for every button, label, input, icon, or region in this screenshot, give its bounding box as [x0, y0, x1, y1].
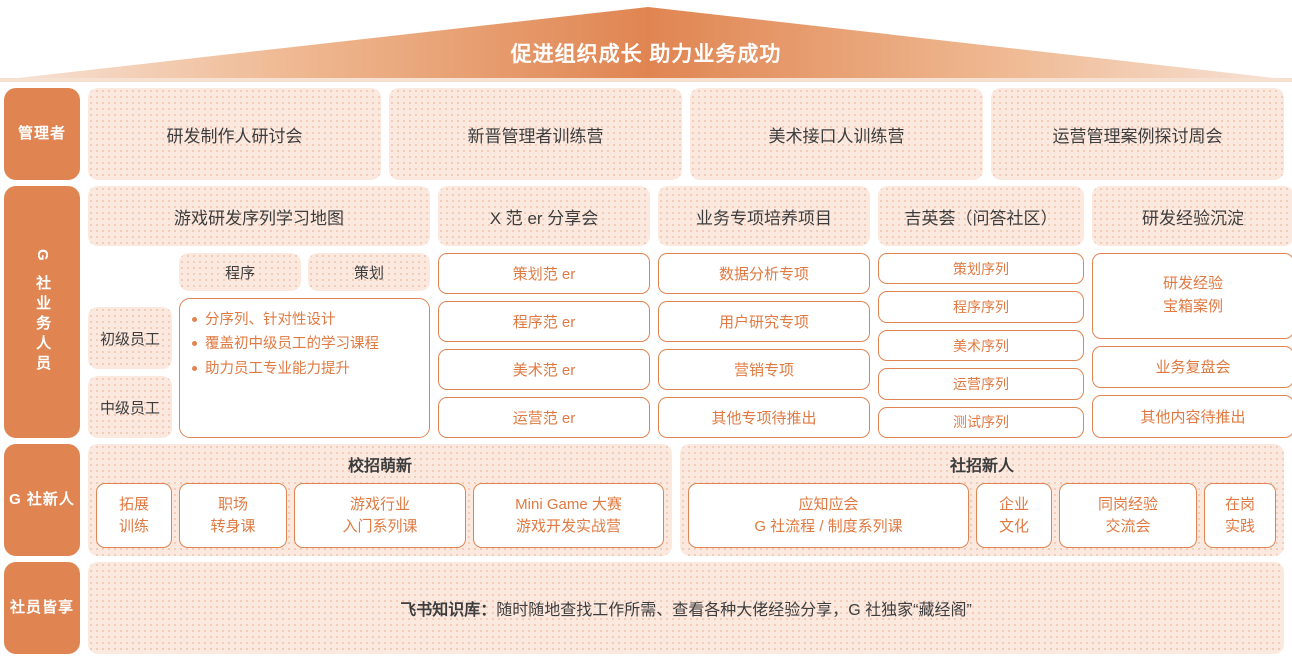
bullet-item: 分序列、针对性设计 [205, 309, 417, 332]
list-item[interactable]: 程序序列 [878, 291, 1084, 322]
list-item[interactable]: 策划序列 [878, 253, 1084, 284]
list-item[interactable]: 策划范 er [438, 253, 650, 294]
list-item[interactable]: 职场转身课 [179, 483, 287, 548]
rnd-experience-list: 研发经验宝箱案例 业务复盘会 其他内容待推出 [1092, 253, 1292, 438]
qa-community-list: 策划序列 程序序列 美术序列 运营序列 测试序列 [878, 253, 1084, 438]
column-head-qa-community[interactable]: 吉英荟（问答社区） [878, 186, 1084, 246]
row-label-all-members: 社员皆享 [4, 562, 80, 654]
list-item[interactable]: 美术范 er [438, 349, 650, 390]
campus-recruit-items: 拓展训练 职场转身课 游戏行业入门系列课 Mini Game 大赛游戏开发实战营 [96, 483, 664, 548]
level-chips: 初级员工 中级员工 [88, 253, 172, 438]
list-item[interactable]: 美术序列 [878, 330, 1084, 361]
row-label-newcomers: G 社新人 [4, 444, 80, 556]
subcategory-chips: 程序 策划 [179, 253, 430, 291]
manager-card[interactable]: 美术接口人训练营 [690, 88, 983, 180]
bullet-list: 分序列、针对性设计 覆盖初中级员工的学习课程 助力员工专业能力提升 [190, 309, 417, 381]
knowledge-base-title: 飞书知识库： [400, 596, 496, 620]
column-rnd-experience: 研发经验沉淀 研发经验宝箱案例 业务复盘会 其他内容待推出 [1092, 186, 1292, 438]
list-item[interactable]: 同岗经验交流会 [1059, 483, 1197, 548]
manager-card[interactable]: 研发制作人研讨会 [88, 88, 381, 180]
list-item[interactable]: 运营序列 [878, 368, 1084, 399]
column-head-fan-er-sharing[interactable]: X 范 er 分享会 [438, 186, 650, 246]
column-qa-community: 吉英荟（问答社区） 策划序列 程序序列 美术序列 运营序列 测试序列 [878, 186, 1084, 438]
list-item[interactable]: 企业文化 [976, 483, 1052, 548]
panel-social-recruits: 社招新人 应知应会G 社流程 / 制度系列课 企业文化 同岗经验交流会 在岗实践 [680, 444, 1284, 556]
row-all-members: 社员皆享 飞书知识库：随时随地查找工作所需、查看各种大佬经验分享，G 社独家“藏… [0, 562, 1292, 654]
manager-card[interactable]: 运营管理案例探讨周会 [991, 88, 1284, 180]
level-chip-intermediate[interactable]: 中级员工 [88, 376, 172, 438]
panel-title-social-recruits: 社招新人 [688, 452, 1276, 476]
list-item[interactable]: 其他专项待推出 [658, 397, 870, 438]
learning-map-right: 程序 策划 分序列、针对性设计 覆盖初中级员工的学习课程 助力员工专业能力提升 [179, 253, 430, 438]
column-head-learning-map[interactable]: 游戏研发序列学习地图 [88, 186, 430, 246]
fan-er-list: 策划范 er 程序范 er 美术范 er 运营范 er [438, 253, 650, 438]
knowledge-base-description: 随时随地查找工作所需、查看各种大佬经验分享，G 社独家“藏经阁” [496, 596, 972, 620]
column-head-special-programs[interactable]: 业务专项培养项目 [658, 186, 870, 246]
list-item[interactable]: 测试序列 [878, 407, 1084, 438]
panel-title-campus-recruits: 校招萌新 [96, 452, 664, 476]
knowledge-base-banner[interactable]: 飞书知识库：随时随地查找工作所需、查看各种大佬经验分享，G 社独家“藏经阁” [88, 562, 1284, 654]
list-item[interactable]: 其他内容待推出 [1092, 395, 1292, 438]
column-fan-er-sharing: X 范 er 分享会 策划范 er 程序范 er 美术范 er 运营范 er [438, 186, 650, 438]
framework-grid: 管理者 研发制作人研讨会 新晋管理者训练营 美术接口人训练营 运营管理案例探讨周… [0, 88, 1292, 654]
list-item[interactable]: 应知应会G 社流程 / 制度系列课 [688, 483, 969, 548]
subcategory-chip-program[interactable]: 程序 [179, 253, 301, 291]
list-item[interactable]: 程序范 er [438, 301, 650, 342]
list-item[interactable]: 游戏行业入门系列课 [294, 483, 466, 548]
list-item[interactable]: Mini Game 大赛游戏开发实战营 [473, 483, 664, 548]
list-item[interactable]: 在岗实践 [1204, 483, 1276, 548]
bullet-item: 助力员工专业能力提升 [205, 358, 417, 381]
column-head-rnd-experience[interactable]: 研发经验沉淀 [1092, 186, 1292, 246]
column-learning-map: 游戏研发序列学习地图 初级员工 中级员工 程序 策划 [88, 186, 430, 438]
row-label-business-staff: G 社业务人员 [4, 186, 80, 438]
roof-title: 促进组织成长 助力业务成功 [0, 38, 1292, 68]
learning-map-bullets: 分序列、针对性设计 覆盖初中级员工的学习课程 助力员工专业能力提升 [179, 298, 430, 438]
list-item[interactable]: 数据分析专项 [658, 253, 870, 294]
row-label-managers: 管理者 [4, 88, 80, 180]
list-item[interactable]: 业务复盘会 [1092, 346, 1292, 389]
social-recruit-items: 应知应会G 社流程 / 制度系列课 企业文化 同岗经验交流会 在岗实践 [688, 483, 1276, 548]
list-item[interactable]: 运营范 er [438, 397, 650, 438]
bullet-item: 覆盖初中级员工的学习课程 [205, 333, 417, 356]
row-managers: 管理者 研发制作人研讨会 新晋管理者训练营 美术接口人训练营 运营管理案例探讨周… [0, 88, 1292, 180]
roof-banner: 促进组织成长 助力业务成功 [0, 0, 1292, 88]
row-managers-body: 研发制作人研讨会 新晋管理者训练营 美术接口人训练营 运营管理案例探讨周会 [88, 88, 1292, 180]
level-chip-junior[interactable]: 初级员工 [88, 307, 172, 369]
row-business-staff-body: 游戏研发序列学习地图 初级员工 中级员工 程序 策划 [88, 186, 1292, 438]
level-spacer [88, 253, 172, 300]
subcategory-chip-planning[interactable]: 策划 [308, 253, 430, 291]
list-item[interactable]: 营销专项 [658, 349, 870, 390]
list-item[interactable]: 研发经验宝箱案例 [1092, 253, 1292, 339]
list-item[interactable]: 用户研究专项 [658, 301, 870, 342]
list-item[interactable]: 拓展训练 [96, 483, 172, 548]
row-all-members-body: 飞书知识库：随时随地查找工作所需、查看各种大佬经验分享，G 社独家“藏经阁” [88, 562, 1292, 654]
capability-framework-diagram: 促进组织成长 助力业务成功 管理者 研发制作人研讨会 新晋管理者训练营 美术接口… [0, 0, 1292, 666]
panel-campus-recruits: 校招萌新 拓展训练 职场转身课 游戏行业入门系列课 Mini Game 大赛游戏… [88, 444, 672, 556]
row-newcomers: G 社新人 校招萌新 拓展训练 职场转身课 游戏行业入门系列课 Mini Gam… [0, 444, 1292, 556]
row-newcomers-body: 校招萌新 拓展训练 职场转身课 游戏行业入门系列课 Mini Game 大赛游戏… [88, 444, 1292, 556]
learning-map-body: 初级员工 中级员工 程序 策划 分序列、针对性设计 覆盖初中 [88, 253, 430, 438]
row-business-staff: G 社业务人员 游戏研发序列学习地图 初级员工 中级员工 程序 [0, 186, 1292, 438]
column-special-programs: 业务专项培养项目 数据分析专项 用户研究专项 营销专项 其他专项待推出 [658, 186, 870, 438]
manager-card[interactable]: 新晋管理者训练营 [389, 88, 682, 180]
special-programs-list: 数据分析专项 用户研究专项 营销专项 其他专项待推出 [658, 253, 870, 438]
